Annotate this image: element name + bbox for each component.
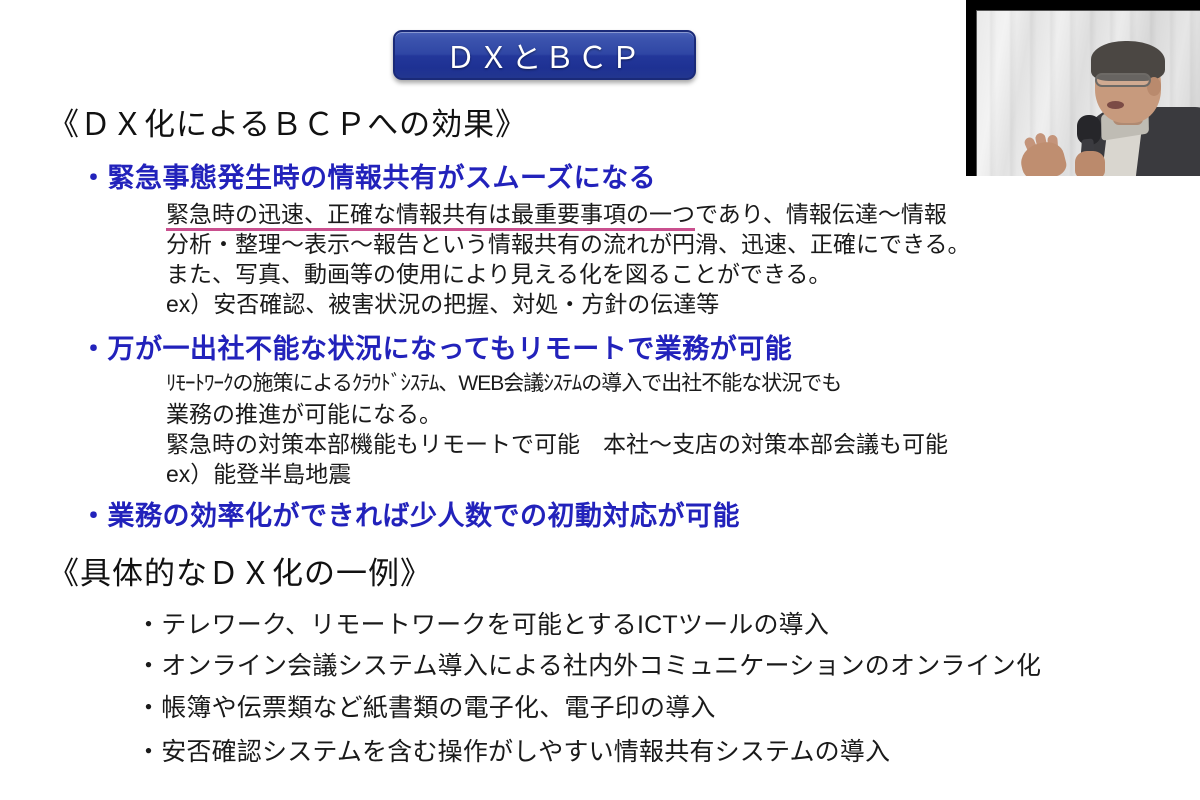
example-item-telework: ・テレワーク、リモートワークを可能とするICTツールの導入 xyxy=(136,605,829,641)
section-heading-effects: 《ＤＸ化によるＢＣＰへの効果》 xyxy=(48,99,527,144)
speaker-hand-holding-mic xyxy=(1075,151,1105,176)
speaker-glasses xyxy=(1095,73,1151,87)
presenter-video-overlay xyxy=(966,0,1200,176)
body-text-emergency-info-sharing: 緊急時の迅速、正確な情報共有は最重要事項の一つであり、情報伝達～情報 分析・整理… xyxy=(166,199,971,319)
underlined-phrase: 緊急時の迅速、正確な情報共有は最重要事項の一つ xyxy=(166,201,695,231)
body-line: 緊急時の迅速、正確な情報共有は最重要事項の一つであり、情報伝達～情報 xyxy=(166,199,971,229)
body-line-example: ex）能登半島地震 xyxy=(166,459,948,489)
presentation-slide: ＤＸとＢＣＰ 《ＤＸ化によるＢＣＰへの効果》 ・緊急事態発生時の情報共有がスムー… xyxy=(0,0,1200,800)
body-line: 緊急時の対策本部機能もリモートで可能 本社～支店の対策本部会議も可能 xyxy=(166,429,948,459)
example-item-document-digitization: ・帳簿や伝票類など紙書類の電子化、電子印の導入 xyxy=(136,688,716,724)
video-letterbox-bar xyxy=(966,0,1200,10)
slide-title-banner: ＤＸとＢＣＰ xyxy=(393,30,696,80)
body-text-remote-work-possible: ﾘﾓｰﾄﾜｰｸの施策によるｸﾗｳﾄﾞｼｽﾃﾑ、WEB会議ｼｽﾃﾑの導入で出社不能… xyxy=(166,369,948,489)
bullet-emergency-info-sharing: ・緊急事態発生時の情報共有がスムーズになる xyxy=(80,156,656,195)
speaker-mouth xyxy=(1107,101,1124,109)
body-line: 分析・整理～表示～報告という情報共有の流れが円滑、迅速、正確にできる。 xyxy=(166,229,971,259)
video-frame xyxy=(976,10,1200,176)
body-line: 業務の推進が可能になる。 xyxy=(166,399,948,429)
slide-title-text: ＤＸとＢＣＰ xyxy=(446,33,644,77)
body-line: ﾘﾓｰﾄﾜｰｸの施策によるｸﾗｳﾄﾞｼｽﾃﾑ、WEB会議ｼｽﾃﾑの導入で出社不能… xyxy=(166,369,948,399)
body-line-example: ex）安否確認、被害状況の把握、対処・方針の伝達等 xyxy=(166,289,971,319)
body-line-remainder: であり、情報伝達～情報 xyxy=(695,201,947,227)
body-line: また、写真、動画等の使用により見える化を図ることができる。 xyxy=(166,259,971,289)
section-heading-examples: 《具体的なＤＸ化の一例》 xyxy=(48,548,432,593)
example-item-safety-confirmation: ・安否確認システムを含む操作がしやすい情報共有システムの導入 xyxy=(136,732,890,768)
bullet-efficiency-small-team: ・業務の効率化ができれば少人数での初動対応が可能 xyxy=(80,494,740,533)
example-item-online-meeting: ・オンライン会議システム導入による社内外コミュニケーションのオンライン化 xyxy=(136,646,1041,682)
bullet-remote-work-possible: ・万が一出社不能な状況になってもリモートで業務が可能 xyxy=(80,327,792,366)
